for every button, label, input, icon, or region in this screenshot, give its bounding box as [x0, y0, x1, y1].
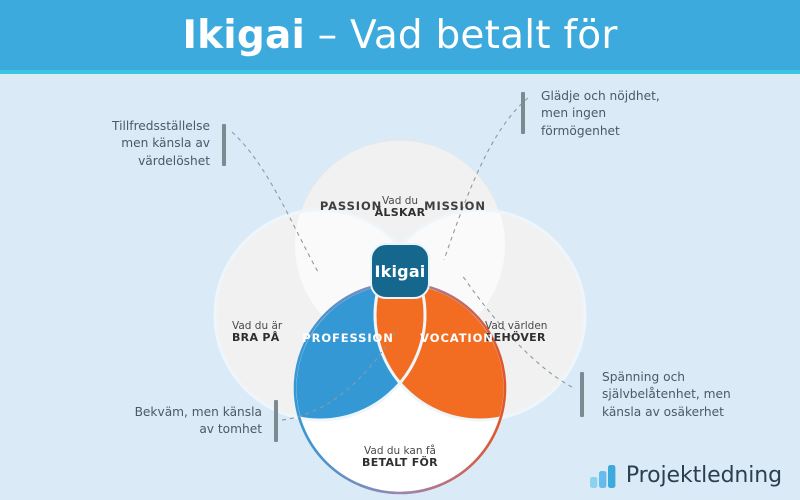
brand-logo[interactable]: Projektledning	[589, 463, 782, 488]
ikigai-center-chip: Ikigai	[370, 243, 430, 299]
segment-label-profession: PROFESSION	[298, 331, 398, 345]
infographic-canvas: Ikigai – Vad betalt för	[0, 0, 800, 500]
annotation-bottom-right: Spänning och självbelåtenhet, men känsla…	[602, 369, 792, 421]
annotation-top-right: Glädje och nöjdhet, men ingen förmögenhe…	[541, 88, 721, 140]
page-title: Ikigai – Vad betalt för	[182, 16, 617, 55]
header-banner: Ikigai – Vad betalt för	[0, 0, 800, 70]
annotation-bar-bottom-left	[274, 400, 278, 442]
annotation-bar-top-right	[521, 92, 525, 134]
annotation-bottom-left: Bekväm, men känsla av tomhet	[110, 404, 262, 439]
segment-label-mission: MISSION	[410, 199, 500, 213]
annotation-bar-bottom-right	[580, 372, 584, 417]
brand-name: Projektledning	[626, 463, 782, 488]
ikigai-center-label: Ikigai	[374, 262, 425, 281]
segment-label-vocation: VOCATION	[412, 331, 502, 345]
title-light: – Vad betalt för	[318, 13, 618, 58]
segment-label-passion: PASSION	[306, 199, 396, 213]
bar-chart-icon	[589, 464, 619, 488]
annotation-bar-top-left	[222, 124, 226, 166]
annotation-top-left: Tillfredsställelse men känsla av värdelö…	[62, 118, 210, 170]
title-strong: Ikigai	[182, 13, 305, 58]
